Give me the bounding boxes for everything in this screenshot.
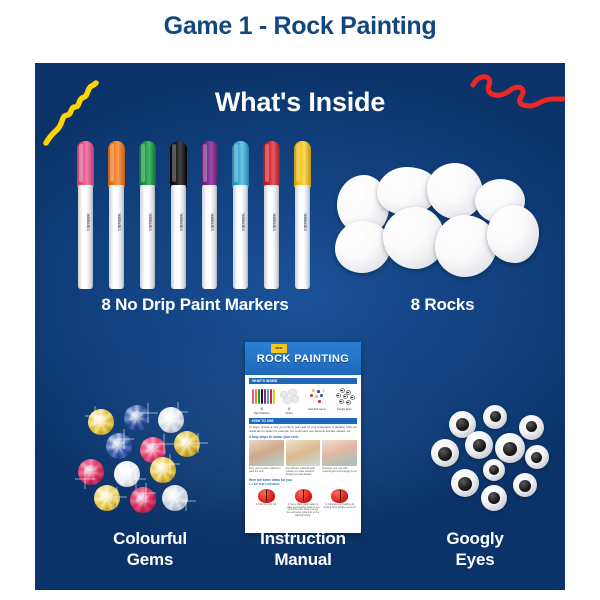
googly-eye — [519, 415, 544, 440]
marker-red: Skillmatics — [263, 141, 280, 289]
googly-eye — [483, 405, 507, 429]
marker-green: Skillmatics — [139, 141, 156, 289]
ladybug-icon — [331, 489, 348, 503]
mini-marker — [270, 389, 272, 404]
manual-step: Use different coloured paint markers to … — [286, 440, 321, 476]
googly-eye — [495, 433, 525, 463]
manual-step-photo — [286, 440, 321, 466]
caption-line-1: Colourful — [55, 528, 245, 549]
googly-eye — [513, 473, 537, 497]
googly-eye-pupil — [456, 418, 469, 431]
marker-lightblue: Skillmatics — [232, 141, 249, 289]
caption-googly-eyes: Googly Eyes — [395, 528, 555, 570]
manual-gems-art — [304, 387, 329, 407]
marker-cap — [232, 141, 249, 188]
googly-eye-pupil — [519, 480, 531, 492]
manual-content-eyes: Googly Eyes — [332, 387, 357, 415]
mini-eye — [346, 400, 351, 405]
googly-eye-pupil — [503, 442, 517, 456]
marker-brand-label: Skillmatics — [81, 213, 90, 239]
gem-gold — [150, 457, 176, 483]
googly-eye-pupil — [489, 465, 499, 475]
googly-eye — [481, 485, 507, 511]
manual-rocks-art — [277, 387, 302, 407]
mini-gem — [320, 394, 323, 397]
marker-brand-label: Skillmatics — [236, 213, 245, 239]
whats-inside-heading: What's Inside — [35, 87, 565, 118]
gems-group — [60, 403, 250, 518]
gem-gold — [174, 431, 200, 457]
marker-brand-label: Skillmatics — [205, 213, 214, 239]
marker-brand-label: Skillmatics — [267, 213, 276, 239]
rock — [427, 163, 483, 219]
caption-colourful-gems: Colourful Gems — [55, 528, 245, 570]
marker-brand-label: Skillmatics — [112, 213, 121, 239]
manual-step: First, use the paint markers to paint th… — [249, 440, 284, 476]
manual-content-label: Paint Markers — [249, 412, 274, 415]
manual-content-rocks: 8 Rocks — [277, 387, 302, 415]
mini-marker — [264, 389, 266, 404]
mini-eye — [350, 395, 355, 400]
manual-step-caption: First, use the paint markers to paint th… — [249, 467, 284, 473]
googly-eye — [465, 431, 493, 459]
mini-gem — [310, 394, 313, 397]
googly-eye-pupil — [490, 411, 501, 422]
manual-intro-text: To begin, choose a rock you'd like to pa… — [245, 425, 361, 434]
mini-marker — [273, 389, 275, 404]
caption-line-1: Instruction — [225, 528, 381, 549]
manual-ladybug-step: 2. Use a black paint marker to make the … — [286, 489, 321, 519]
marker-brand-label: Skillmatics — [174, 213, 183, 239]
caption-instruction-manual: Instruction Manual — [225, 528, 381, 570]
manual-header: NEW ROCK PAINTING — [245, 342, 361, 375]
marker-cap — [108, 141, 125, 188]
manual-step-photo — [322, 440, 357, 466]
googly-eye-pupil — [531, 452, 542, 463]
manual-contents-row: 8 Paint Markers 8 Rocks — [245, 385, 361, 415]
mini-marker — [261, 389, 263, 404]
gem-pink — [130, 487, 156, 513]
manual-idea-caption: 2. Use a black paint marker to make the … — [286, 504, 321, 519]
rocks-group — [335, 163, 550, 291]
manual-step-caption: Use different coloured paint markers to … — [286, 467, 321, 476]
manual-content-gems: Colourful Gems — [304, 387, 329, 415]
manual-step-caption: Decorate your rock with colourful gems a… — [322, 467, 357, 473]
manual-whats-inside-strip: WHAT'S INSIDE — [249, 378, 357, 384]
marker-cap — [294, 141, 311, 188]
googly-eye — [431, 439, 459, 467]
mini-gem — [313, 399, 316, 402]
manual-ladybug-step: 3. Complete your ladybug by sticking som… — [322, 489, 357, 519]
marker-cap — [263, 141, 280, 188]
gem-gold — [88, 409, 114, 435]
gem-blue — [106, 433, 132, 459]
caption-line-2: Eyes — [395, 549, 555, 570]
marker-brand-label: Skillmatics — [143, 213, 152, 239]
gem-white — [162, 485, 188, 511]
manual-step-photo — [249, 440, 284, 466]
mini-rock — [291, 395, 299, 403]
googly-eye — [483, 459, 505, 481]
marker-yellow: Skillmatics — [294, 141, 311, 289]
gem-white — [158, 407, 184, 433]
paint-markers-group: Skillmatics Skillmatics Skillmatics Skil… — [77, 141, 312, 291]
marker-cap — [170, 141, 187, 188]
manual-step: Decorate your rock with colourful gems a… — [322, 440, 357, 476]
manual-idea-caption: 1. Paint the rock red. — [249, 504, 284, 507]
manual-ladybug-step: 1. Paint the rock red. — [249, 489, 284, 519]
manual-ladybug-row: 1. Paint the rock red. 2. Use a black pa… — [245, 488, 361, 520]
gem-gold — [94, 485, 120, 511]
ladybug-icon — [258, 489, 275, 503]
manual-content-markers: 8 Paint Markers — [249, 387, 274, 415]
ladybug-icon — [295, 489, 312, 503]
manual-logo-badge: NEW — [271, 344, 287, 353]
marker-cap — [201, 141, 218, 188]
mini-marker — [267, 389, 269, 404]
rock — [487, 205, 539, 263]
manual-content-label: Rocks — [277, 412, 302, 415]
marker-cap — [77, 141, 94, 188]
manual-steps-row: First, use the paint markers to paint th… — [245, 439, 361, 477]
mini-marker — [255, 389, 257, 404]
mini-eye — [336, 393, 341, 398]
mini-gem — [322, 389, 325, 392]
rock — [335, 221, 391, 273]
marker-brand-label: Skillmatics — [298, 213, 307, 239]
googly-eyes-group — [425, 403, 565, 518]
page-title: Game 1 - Rock Painting — [0, 12, 600, 41]
manual-content-count: 8 — [277, 407, 302, 411]
googly-eye-pupil — [473, 439, 486, 452]
googly-eye — [451, 469, 479, 497]
mini-eye — [343, 394, 348, 399]
googly-eye — [525, 445, 549, 469]
marker-orange: Skillmatics — [108, 141, 125, 289]
instruction-manual-sheet: NEW ROCK PAINTING WHAT'S INSIDE 8 Paint … — [245, 342, 361, 533]
marker-pink: Skillmatics — [77, 141, 94, 289]
manual-content-count: 8 — [249, 407, 274, 411]
mini-gem — [318, 400, 321, 403]
mini-gem — [317, 390, 320, 393]
marker-purple: Skillmatics — [201, 141, 218, 289]
caption-line-1: Googly — [395, 528, 555, 549]
mini-marker — [252, 389, 254, 404]
caption-rocks: 8 Rocks — [335, 295, 550, 315]
googly-eye-pupil — [438, 447, 452, 461]
manual-content-label: Colourful Gems — [304, 408, 329, 411]
gem-pink — [78, 459, 104, 485]
mini-gem — [312, 389, 315, 392]
marker-cap — [139, 141, 156, 188]
gem-blue — [124, 405, 150, 431]
mini-eye — [340, 388, 345, 393]
manual-idea-caption: 3. Complete your ladybug by sticking som… — [322, 504, 357, 510]
caption-line-2: Gems — [55, 549, 245, 570]
whats-inside-panel: What's Inside Skillmatics Skillmatics Sk… — [35, 63, 565, 590]
manual-title: ROCK PAINTING — [245, 353, 361, 365]
caption-paint-markers: 8 No Drip Paint Markers — [55, 295, 335, 315]
manual-content-label: Googly Eyes — [332, 408, 357, 411]
manual-eyes-art — [332, 387, 357, 407]
caption-line-2: Manual — [225, 549, 381, 570]
manual-markers-art — [249, 387, 274, 407]
gem-white — [114, 461, 140, 487]
googly-eye-pupil — [488, 492, 500, 504]
mini-gem — [315, 395, 318, 398]
manual-how-to-use-strip: HOW TO USE — [249, 418, 357, 424]
googly-eye-pupil — [458, 477, 472, 491]
mini-marker — [258, 389, 260, 404]
marker-black: Skillmatics — [170, 141, 187, 289]
googly-eye-pupil — [526, 421, 537, 432]
mini-eye — [339, 399, 344, 404]
